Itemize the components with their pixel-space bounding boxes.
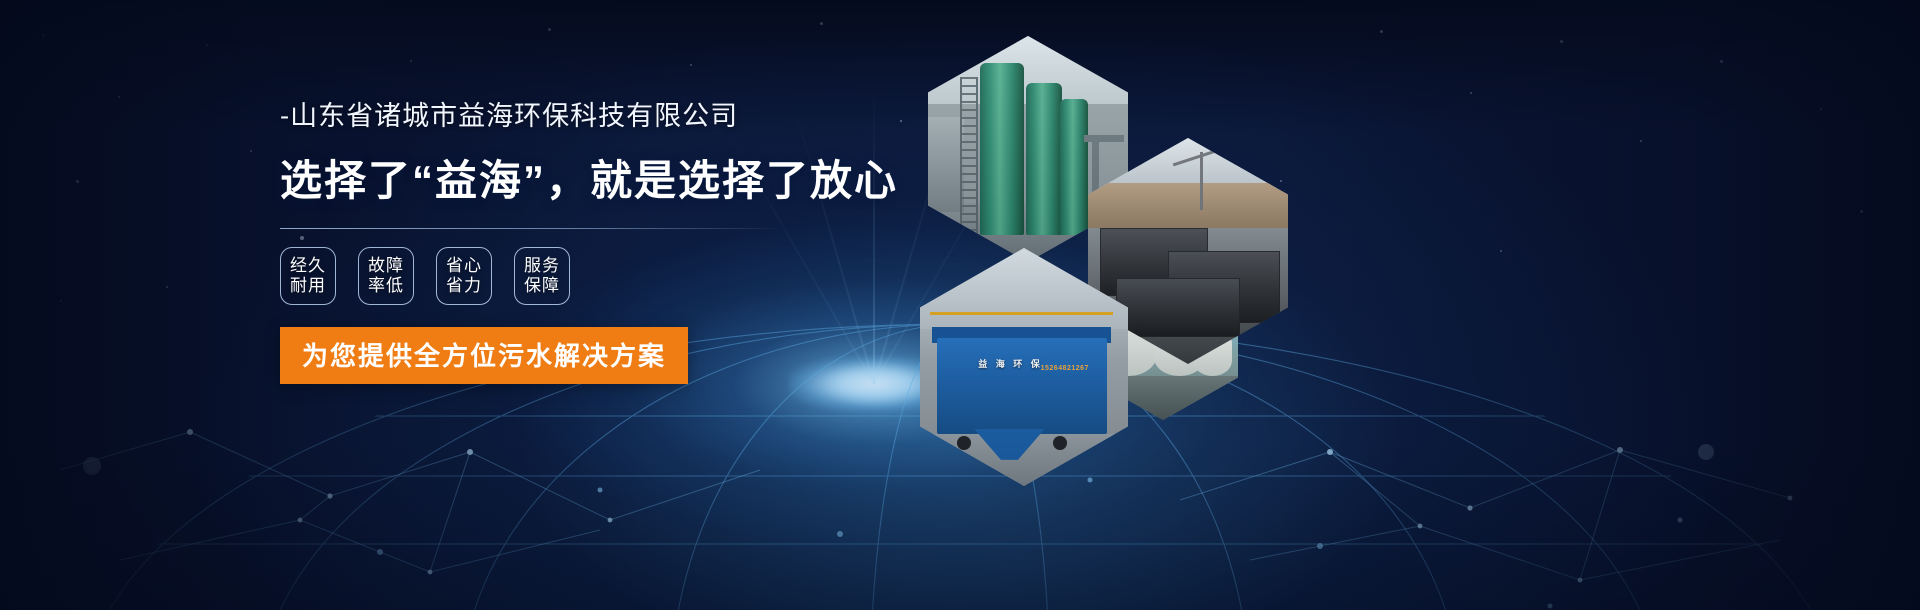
- divider-rule: [280, 228, 785, 229]
- badge-line-1: 服务: [524, 256, 560, 276]
- hero-banner: 益 海 环 保 15264821267 -山东省诸城市益海环保科技有限公司 选择…: [0, 0, 1920, 610]
- badge-line-2: 率低: [368, 276, 404, 296]
- feature-badge: 故障 率低: [358, 247, 414, 305]
- feature-badge: 经久 耐用: [280, 247, 336, 305]
- cta-button[interactable]: 为您提供全方位污水解决方案: [280, 327, 688, 384]
- badge-line-2: 保障: [524, 276, 560, 296]
- hero-copy: -山东省诸城市益海环保科技有限公司 选择了“益海”，就是选择了放心 经久 耐用 …: [280, 94, 840, 384]
- badge-line-1: 故障: [368, 256, 404, 276]
- feature-badge: 服务 保障: [514, 247, 570, 305]
- badge-line-1: 省心: [446, 256, 482, 276]
- hero-headline: 选择了“益海”，就是选择了放心: [280, 147, 840, 208]
- badge-line-2: 省力: [446, 276, 482, 296]
- feature-badge: 省心 省力: [436, 247, 492, 305]
- company-kicker: -山东省诸城市益海环保科技有限公司: [280, 94, 840, 133]
- feature-badge-list: 经久 耐用 故障 率低 省心 省力 服务 保障: [280, 247, 840, 305]
- badge-line-2: 耐用: [290, 276, 326, 296]
- badge-line-1: 经久: [290, 256, 326, 276]
- hex-photo-cluster: 益 海 环 保 15264821267: [880, 0, 1380, 610]
